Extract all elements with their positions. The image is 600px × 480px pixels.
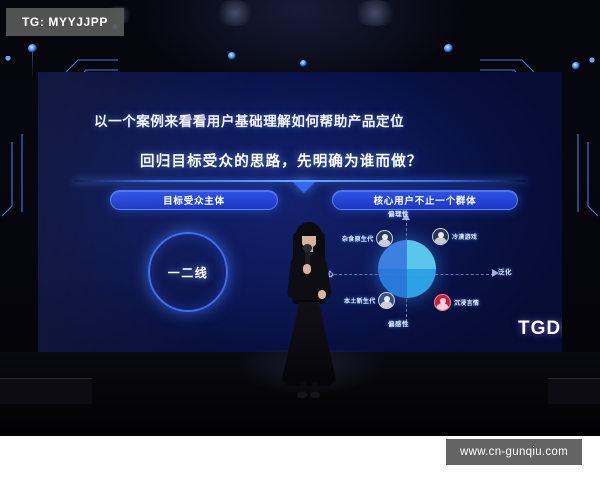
presenter-shoe (297, 392, 307, 398)
stage-light (300, 60, 307, 67)
presenter (278, 222, 340, 404)
stage-photo: 以一个案例来看看用户基础理解如何帮助产品定位 回归目标受众的思路，先明确为谁而做… (0, 0, 600, 436)
avatar (378, 292, 395, 309)
persona-label: 沉浸言情 (454, 298, 479, 307)
light-haze (214, 0, 256, 26)
persona-quadrant-chart: 偏理性 偏感性 悦心 泛化 杂食原生代 冷漠游戏 (324, 214, 524, 330)
presenter-hand-right (318, 290, 326, 299)
chart-quadrant-circle (378, 240, 436, 298)
microphone-head (303, 244, 312, 252)
avatar (432, 228, 449, 245)
stage-light (228, 52, 236, 60)
axis-label-bottom: 偏感性 (388, 318, 409, 328)
logo-wordmark: TGDC (518, 318, 562, 340)
presenter-skirt (282, 302, 336, 386)
pill-target-audience: 目标受众主体 (110, 190, 278, 210)
chevron-down-icon (293, 182, 315, 193)
persona-label: 冷漠游戏 (452, 232, 477, 241)
ring-label: 一二线 (148, 232, 228, 312)
avatar (376, 230, 393, 247)
watermark-top-left: TG: MYYJJPP (6, 8, 124, 36)
light-haze (352, 0, 398, 26)
watermark-bottom-right: www.cn-gunqiu.com (446, 439, 582, 465)
slide-headline: 以一个案例来看看用户基础理解如何帮助产品定位 (94, 110, 404, 130)
tier-city-ring: 一二线 (126, 232, 248, 322)
presenter-hand-left (303, 264, 311, 274)
presenter-shoe (310, 392, 320, 398)
stage-light (572, 62, 580, 70)
slide-subline: 回归目标受众的思路，先明确为谁而做？ (140, 150, 423, 171)
persona-label: 本土新生代 (344, 296, 376, 305)
tgdc-logo: TGDC 20 21 (518, 318, 562, 340)
stage-light (444, 44, 453, 53)
light-beam (32, 52, 33, 78)
persona-label: 杂食原生代 (342, 234, 374, 243)
pill-core-users: 核心用户不止一个群体 (332, 190, 518, 210)
stage-monitor (548, 378, 600, 404)
axis-label-right: 泛化 (498, 266, 512, 276)
avatar (434, 294, 451, 311)
axis-label-top: 偏理性 (388, 208, 409, 218)
stage-monitor (0, 378, 92, 404)
